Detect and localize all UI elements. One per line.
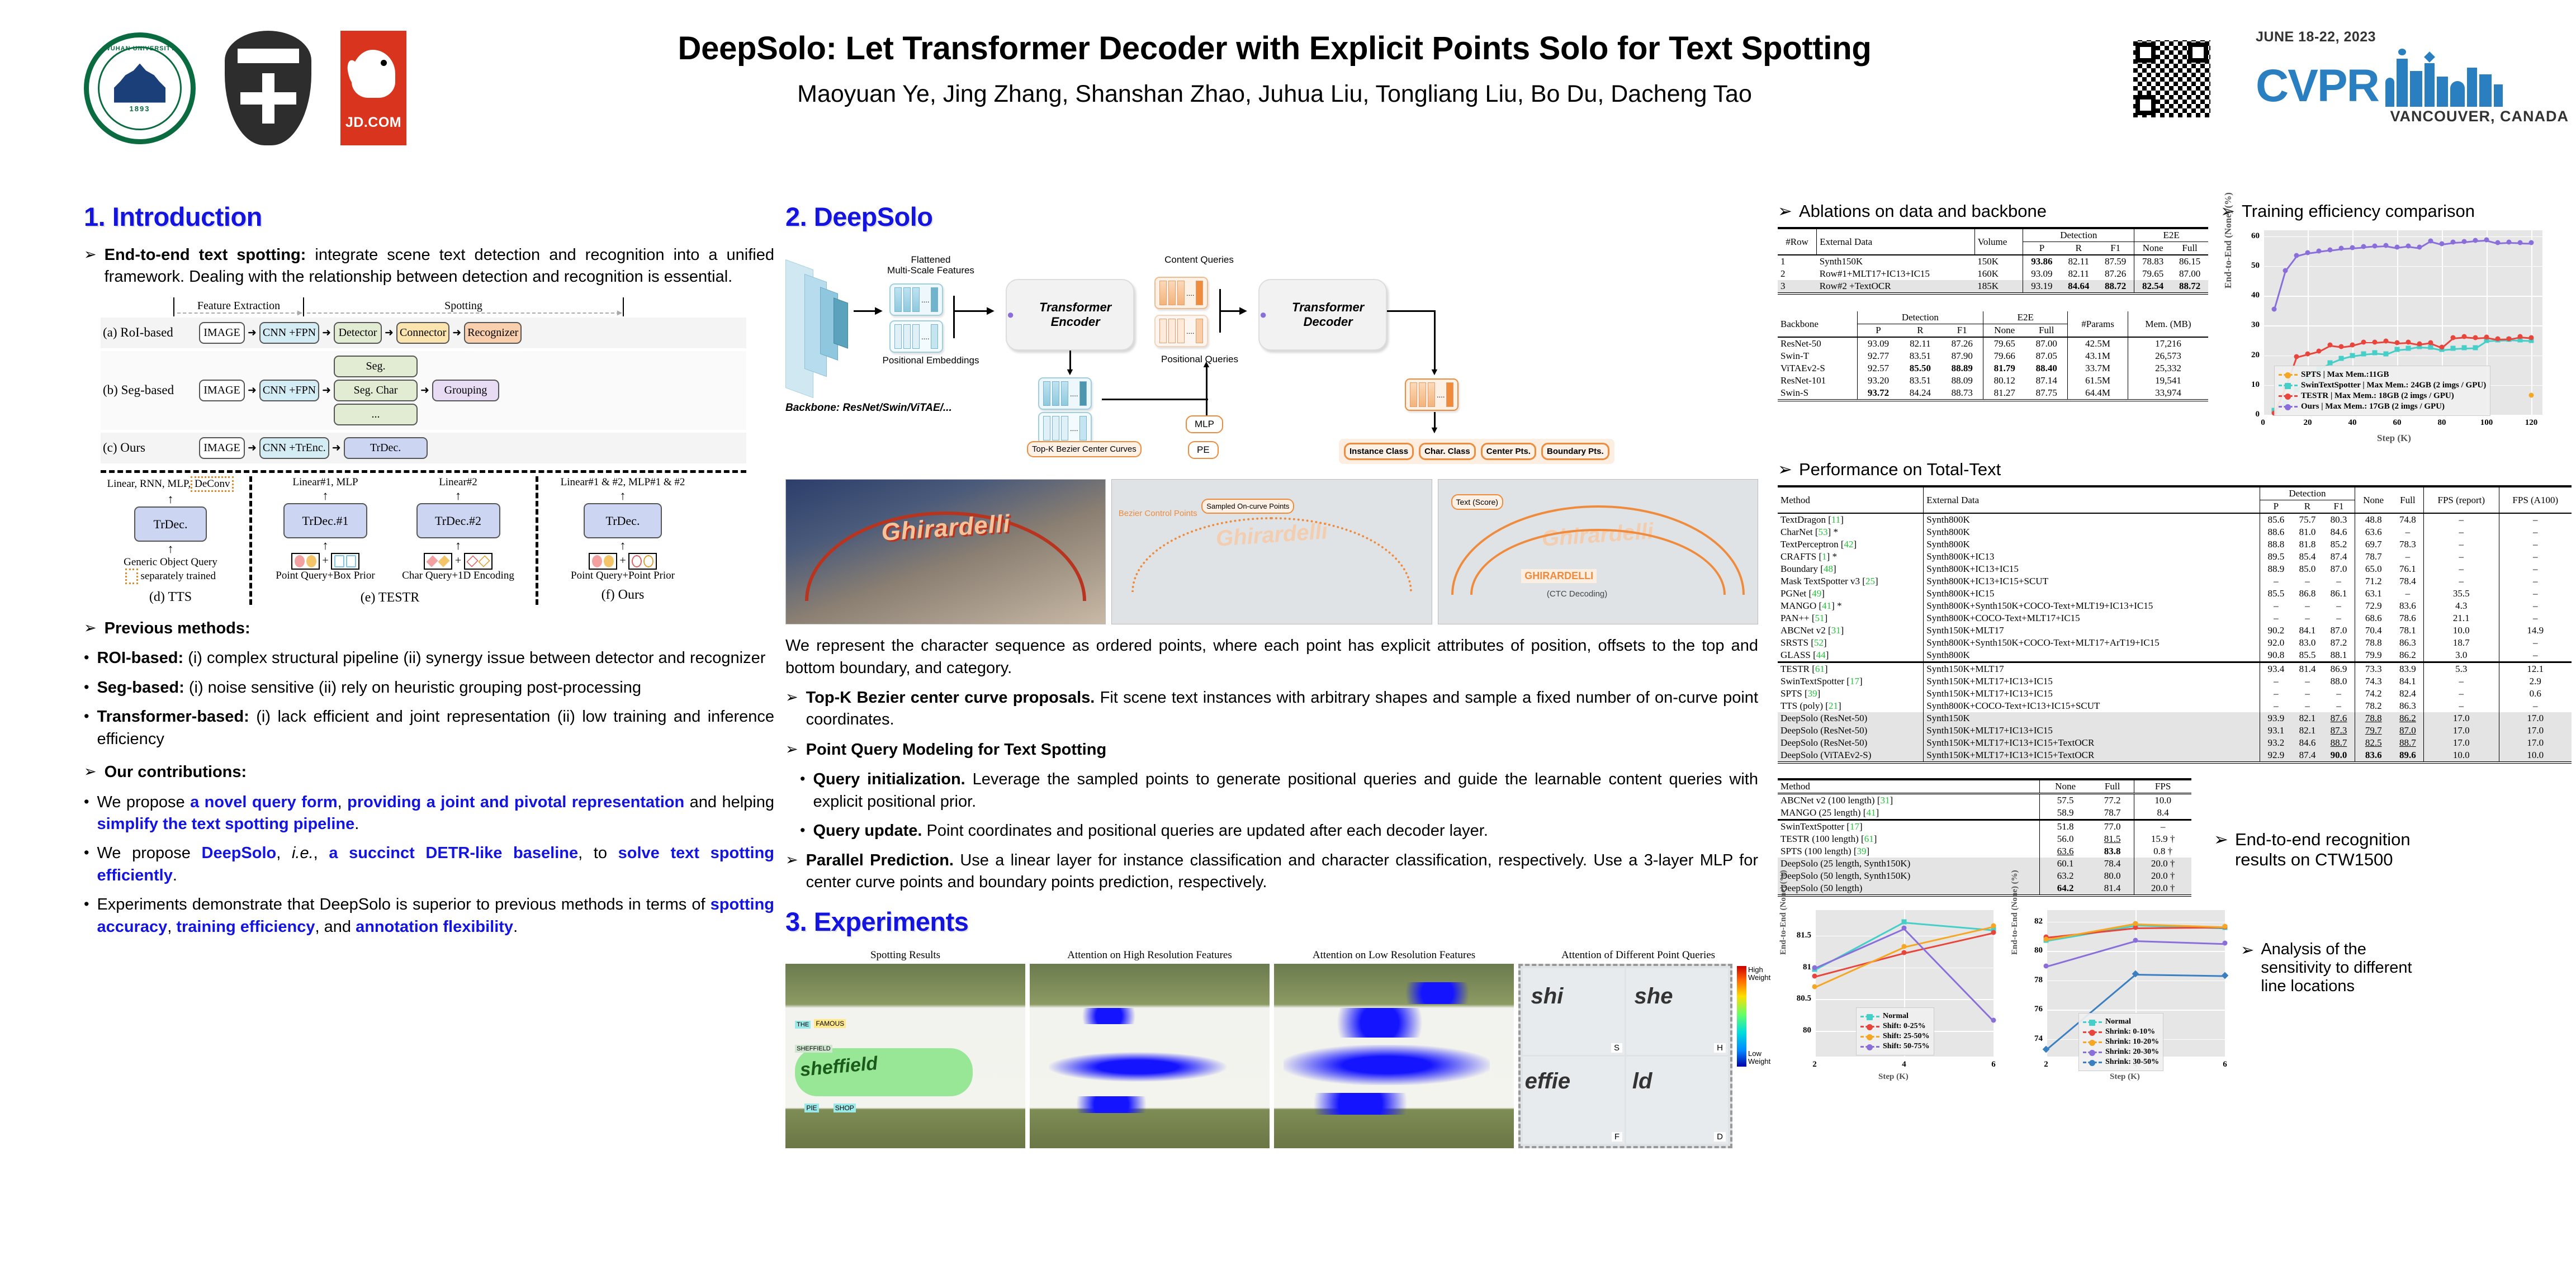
cell-external-data: Synth800K+IC15 (1924, 588, 2260, 600)
cell-value: 90.8 (2260, 649, 2292, 662)
table-row: ResNet-5093.0982.1187.2679.6587.0042.5M1… (1778, 337, 2208, 350)
data-point (2529, 335, 2534, 340)
arrow-bullet-icon: ➢ (785, 850, 798, 894)
cell-value: – (2423, 563, 2499, 575)
cell-R: 83.51 (1900, 375, 1942, 387)
data-point (2283, 268, 2288, 273)
highlight-part: training efficiency (176, 918, 315, 936)
arrow-bullet-icon: ➢ (1778, 460, 1792, 480)
figure-row-label: (b) Seg-based (103, 383, 199, 397)
cell-value: – (2323, 612, 2355, 624)
cell-value: 35.5 (2423, 588, 2499, 600)
cell-method: CharNet [53] * (1778, 526, 1924, 538)
text-part: We propose (97, 793, 190, 811)
table-row: DeepSolo (25 length, Synth150K)60.178.42… (1778, 858, 2191, 870)
label-ctc-decoding: (CTC Decoding) (1547, 589, 1607, 599)
intro-contribution-2: • We propose DeepSolo, i.e., a succinct … (84, 842, 774, 887)
cell-value: 85.2 (2323, 538, 2355, 551)
figure-ghirardelli-panels: Ghirardelli Ghirardelli Sampled On-curve… (785, 479, 1758, 624)
data-point (2451, 240, 2456, 245)
head-char-class: Char. Class (1419, 443, 1476, 460)
cell-external-data: Synth800K (1924, 649, 2260, 662)
cell-method: TESTR (100 length) [61] (1778, 833, 2040, 845)
cell-F1: 87.26 (2097, 268, 2134, 280)
cell-value: – (2291, 575, 2323, 588)
vancouver-skyline-icon (2383, 45, 2569, 107)
col-full: Full (2025, 324, 2067, 338)
col-r: R (2291, 500, 2323, 514)
cell-method: GLASS [44] (1778, 649, 1924, 662)
label-content-queries: Content Queries (1143, 254, 1255, 265)
cell-Mem. (MB): 25,332 (2128, 362, 2208, 375)
col-f1: F1 (2323, 500, 2355, 514)
cell-value: – (2323, 700, 2355, 712)
table-row: SPTS [39]Synth150K+MLT17+IC13+IC15–––74.… (1778, 688, 2572, 700)
cell-value: 78.2 (2355, 700, 2392, 712)
cell-method: DeepSolo (ResNet-50) (1778, 737, 1924, 749)
data-point (2518, 334, 2523, 339)
cell-external-data: Synth150K+MLT17 (1924, 662, 2260, 676)
wuhan-building-icon (114, 64, 165, 103)
data-point (2518, 240, 2523, 245)
cell-method: SRSTS [52] (1778, 637, 1924, 649)
transformer-decoder-block: ● Transformer Decoder (1258, 279, 1387, 351)
figure-label-feature-extraction: Feature Extraction (197, 300, 280, 312)
cell-R: 84.64 (2060, 280, 2097, 293)
data-point (2473, 238, 2478, 243)
data-point (1991, 1018, 1996, 1023)
col-volume: Volume (1974, 228, 2023, 255)
data-point (2133, 921, 2138, 926)
cell-value: 85.4 (2291, 551, 2323, 563)
cell-value: – (2134, 820, 2191, 834)
col-r: R (2060, 242, 2097, 255)
cell-value: 5.3 (2423, 662, 2499, 676)
cell-method: ABCNet v2 [31] (1778, 624, 1924, 637)
content-queries-stack: .... (1154, 277, 1208, 309)
figure-cell-separately-trained: separately trained (140, 570, 216, 582)
cell-value: 10.0 (2423, 749, 2499, 763)
heading-label: End-to-end recognition results on CTW150… (2235, 830, 2449, 870)
label-sampled-on-curve-points: Sampled On-curve Points (1201, 499, 1294, 514)
cell-method: SwinTextSpotter [17] (1778, 820, 2040, 834)
chart-xlabel: Step (K) (1878, 1072, 1909, 1082)
data-point (2305, 250, 2310, 255)
dot-bullet-icon: • (84, 894, 89, 938)
cell-value: 93.1 (2260, 724, 2292, 737)
cell-Full: 87.14 (2025, 375, 2067, 387)
col-full: Full (2392, 486, 2424, 513)
attention-colorbar: High Weight Low Weight (1736, 966, 1758, 1067)
cell-P: 92.57 (1857, 362, 1899, 375)
data-point (2350, 245, 2355, 250)
cell-None: 79.66 (1983, 350, 2025, 362)
cell-value: – (2499, 563, 2572, 575)
cell-value: 88.6 (2260, 526, 2292, 538)
cell-P: 93.86 (2023, 255, 2060, 268)
cell-value: 85.6 (2260, 513, 2292, 526)
cell-value: – (2291, 700, 2323, 712)
cell-value: – (2423, 688, 2499, 700)
text-part: . (354, 815, 359, 833)
cell-method: DeepSolo (50 length) (1778, 882, 2040, 896)
cell-None: 80.12 (1983, 375, 2025, 387)
arrow-bullet-icon: ➢ (84, 244, 97, 288)
arrow-bullet-icon: ➢ (84, 618, 97, 640)
table-row: ResNet-10193.2083.5188.0980.1287.1461.5M… (1778, 375, 2208, 387)
cell-R: 85.50 (1900, 362, 1942, 375)
figure-box-trdec: TrDec. (584, 503, 662, 538)
cell-value: 83.6 (2392, 600, 2424, 612)
cell-value: – (2423, 575, 2499, 588)
cell-value: 83.6 (2355, 749, 2392, 763)
figure-cell-point-query-point-prior: Point Query+Point Prior (547, 570, 698, 582)
jd-dog-eye-icon (381, 60, 387, 66)
deepsolo-paragraph-1: We represent the character sequence as o… (785, 634, 1758, 679)
cell-external-data: Synth800K (1924, 526, 2260, 538)
figure-cell-top-label: Linear, RNN, MLP, (107, 478, 191, 490)
label-flattened: Flattened (869, 254, 992, 265)
legend-item: SwinTextSpotter | Max Mem.: 24GB (2 imgs… (2279, 381, 2486, 390)
cell-#Params: 61.5M (2068, 375, 2128, 387)
label-topk-bezier-curves: Top-K Bezier Center Curves (1027, 441, 1142, 457)
cell-value: 20.0 † (2134, 858, 2191, 870)
cell-external-data: Synth150K+MLT17+IC13+IC15 (1924, 675, 2260, 688)
figure-row-seg-based: (b) Seg-based IMAGE➜ CNN +FPN➜ Seg. Seg.… (101, 351, 746, 430)
col-p: P (2023, 242, 2060, 255)
highlight-part: a succinct DETR-like baseline (329, 844, 578, 862)
col-f1: F1 (2097, 242, 2134, 255)
y-tick-label: 80.5 (1797, 994, 1811, 1003)
cell-value: 78.1 (2392, 624, 2424, 637)
cell-value: 14.9 (2499, 624, 2572, 637)
highlight-part: providing a joint and pivotal representa… (347, 793, 684, 811)
cell-F1: 88.09 (1941, 375, 1983, 387)
point-query-cell-s: shi S (1523, 968, 1625, 1055)
col-none: None (2040, 779, 2091, 794)
cell-P: 93.09 (2023, 268, 2060, 280)
figure-attention-strip: Spotting Results FAMOUS THE SHEFFIELD sh… (785, 949, 1758, 1148)
table-row: Mask TextSpotter v3 [25]Synth800K+IC13+I… (1778, 575, 2572, 588)
right-heading-row: ➢ Ablations on data and backbone ➢ Train… (1778, 201, 2572, 227)
qr-finder-top-left (2135, 42, 2156, 63)
figure-box-grouping: Grouping (432, 380, 499, 401)
logo-group: WUHAN UNIVERSITY 1893 JD.COM (84, 31, 406, 145)
table-row: ViTAEv2-S92.5785.5088.8981.7988.4033.7M2… (1778, 362, 2208, 375)
cell-value: 87.0 (2392, 724, 2424, 737)
x-tick-label: 60 (2390, 418, 2404, 428)
cell-Mem. (MB): 19,541 (2128, 375, 2208, 387)
table-row: TESTR (100 length) [61]56.081.515.9 † (1778, 833, 2191, 845)
encoder-output-stack-top: .... (1038, 377, 1092, 410)
cell-P: 92.77 (1857, 350, 1899, 362)
chart-xlabel: Step (K) (2377, 433, 2411, 444)
table-header-group-row: Backbone Detection E2E #Params Mem. (MB) (1778, 311, 2208, 324)
cell-value: 86.1 (2323, 588, 2355, 600)
head-center-pts: Center Pts. (1481, 443, 1536, 460)
cell-value: 84.1 (2392, 675, 2424, 688)
legend-item: Ours | Max Mem.: 17GB (2 imgs / GPU) (2279, 402, 2486, 411)
dot-bullet-icon: • (84, 706, 89, 750)
cell-#Params: 33.7M (2068, 362, 2128, 375)
cell-value: 84.1 (2291, 624, 2323, 637)
cell-#Params: 42.5M (2068, 337, 2128, 350)
legend-label: Shrink: 0-10% (2105, 1027, 2155, 1036)
cell-value: – (2291, 675, 2323, 688)
y-tick-label: 81 (1803, 963, 1811, 972)
cell-value: 81.4 (2091, 882, 2134, 896)
head-boundary-pts: Boundary Pts. (1541, 443, 1609, 460)
strip-caption: Attention on High Resolution Features (1030, 949, 1270, 962)
col-params: #Params (2068, 311, 2128, 337)
bullet-text: Point coordinates and positional queries… (922, 822, 1488, 840)
data-point (2473, 335, 2478, 340)
cell-value: 88.1 (2323, 649, 2355, 662)
cell-F1: 88.73 (1941, 387, 1983, 400)
deepsolo-bullet-topk: ➢ Top-K Bezier center curve proposals. F… (785, 687, 1758, 731)
legend-label: Shift: 0-25% (1883, 1022, 1926, 1031)
data-point (2361, 339, 2366, 344)
colorbar-low-label: Low Weight (1748, 1050, 1770, 1066)
cell-value: 87.4 (2291, 749, 2323, 763)
cell-value: 82.1 (2291, 724, 2323, 737)
table-row: Swin-T92.7783.5187.9079.6687.0543.1M26,5… (1778, 350, 2208, 362)
cell-value: 78.8 (2355, 712, 2392, 724)
cell-value: – (2499, 551, 2572, 563)
heading-training-efficiency: ➢ Training efficiency comparison (2220, 201, 2475, 221)
table-total-text: Method External Data Detection None Full… (1778, 485, 2572, 764)
label-mlp: MLP (1186, 415, 1223, 433)
label-ghirardelli-output: GHIRARDELLI (1521, 569, 1597, 583)
cell-Full: 86.15 (2171, 255, 2208, 268)
intro-bullet-transformer-based: • Transformer-based: (i) lack efficient … (84, 706, 774, 750)
cell-External Data: Row#2 +TextOCR (1817, 280, 1975, 293)
table-row: CRAFTS [1] *Synth800K+IC1389.585.487.478… (1778, 551, 2572, 563)
figure-row-label: (a) RoI-based (103, 325, 199, 340)
detection-box-sheffield: SHEFFIELD (795, 1045, 832, 1053)
cell-value: – (2291, 612, 2323, 624)
bullet-label: Seg-based: (97, 679, 184, 697)
cell-R: 83.51 (1900, 350, 1942, 362)
cell-value: 70.4 (2355, 624, 2392, 637)
data-point (2350, 353, 2355, 358)
heading-label: Training efficiency comparison (2242, 201, 2475, 221)
data-point (2350, 342, 2355, 347)
data-point (2529, 393, 2534, 398)
cell-value: – (2423, 513, 2499, 526)
cell-value: – (2423, 551, 2499, 563)
cell-value: – (2499, 612, 2572, 624)
cell-value: 83.8 (2091, 845, 2134, 858)
cell-value: 76.1 (2392, 563, 2424, 575)
legend-label: Shrink: 10-20% (2105, 1038, 2159, 1046)
label-positional-queries: Positional Queries (1141, 354, 1258, 364)
cell-value: 86.3 (2392, 700, 2424, 712)
label-multiscale-features: Multi-Scale Features (869, 265, 992, 276)
cell-value: 78.8 (2355, 637, 2392, 649)
intro-bullet-seg-based: • Seg-based: (i) noise sensitive (ii) re… (84, 677, 774, 699)
chart-ylabel: End-to-End (None) (%) (1779, 870, 1788, 955)
cell-method: DeepSolo (50 length, Synth150K) (1778, 870, 2040, 882)
label-transformer-encoder: Transformer Encoder (1017, 300, 1133, 329)
text-part: We propose (97, 844, 201, 862)
cell-method: SPTS [39] (1778, 688, 1924, 700)
cell-external-data: Synth800K+IC13+IC15 (1924, 563, 2260, 575)
intro-contribution-3: • Experiments demonstrate that DeepSolo … (84, 894, 774, 938)
cell-value: 63.6 (2040, 845, 2091, 858)
cell-method: Boundary [48] (1778, 563, 1924, 575)
cell-method: TextPerceptron [42] (1778, 538, 1924, 551)
table-row: DeepSolo (50 length)64.281.420.0 † (1778, 882, 2191, 896)
data-point (2133, 925, 2138, 930)
legend-label: Shrink: 20-30% (2105, 1048, 2159, 1057)
figure-cell-tts: Linear, RNN, MLP,DeConv ↑ TrDec. ↑ Gener… (101, 476, 240, 605)
cell-external-data: Synth800K (1924, 538, 2260, 551)
cell-method: SwinTextSpotter [17] (1778, 675, 1924, 688)
cell-value: 56.0 (2040, 833, 2091, 845)
x-tick-label: 6 (2218, 1060, 2232, 1069)
cell-None: 79.65 (2134, 268, 2171, 280)
col-r: R (1900, 324, 1942, 338)
cell-value: – (2260, 575, 2292, 588)
figure-cell-deconv: DeConv (191, 476, 234, 492)
table-row: SPTS (100 length) [39]63.683.80.8 † (1778, 845, 2191, 858)
cell-Volume: 150K (1974, 255, 2023, 268)
intro-contribution-1: • We propose a novel query form, providi… (84, 792, 774, 836)
cell-value: 85.5 (2291, 649, 2323, 662)
table-row: ABCNet v2 (100 length) [31]57.577.210.0 (1778, 794, 2191, 807)
cell-value: 8.4 (2134, 807, 2191, 820)
data-point (2507, 336, 2512, 341)
table-row: SRSTS [52]Synth800K+Synth150K+COCO-Text+… (1778, 637, 2572, 649)
table-row: Swin-S93.7284.2488.7381.2787.7564.4M33,9… (1778, 387, 2208, 400)
cell-#Row: 3 (1778, 280, 1817, 293)
cell-Full: 87.75 (2025, 387, 2067, 400)
figure-box-recognizer: Recognizer (464, 322, 522, 344)
x-tick-label: 100 (2480, 418, 2493, 428)
legend-item: Normal (2083, 1017, 2159, 1026)
cell-value: 17.0 (2423, 737, 2499, 749)
highlight-part: annotation flexibility (356, 918, 513, 936)
cell-value: 80.0 (2091, 870, 2134, 882)
bullet-label: Query initialization. (813, 770, 965, 788)
y-tick-label: 80 (2034, 946, 2043, 955)
col-mem: Mem. (MB) (2128, 311, 2208, 337)
cell-P: 93.19 (2023, 280, 2060, 293)
text-part: , (338, 793, 348, 811)
column-results: ➢ Ablations on data and backbone ➢ Train… (1778, 201, 2572, 1091)
strip-attention-point-queries: Attention of Different Point Queries shi… (1518, 949, 1758, 1148)
heading-label: Analysis of the sensitivity to different… (2261, 940, 2425, 996)
data-point (2428, 238, 2433, 243)
data-point (2133, 937, 2138, 943)
legend-label: SwinTextSpotter | Max Mem.: 24GB (2 imgs… (2301, 381, 2486, 390)
cell-R: 82.11 (2060, 255, 2097, 268)
cell-value: 84.6 (2323, 526, 2355, 538)
cell-value: 88.8 (2260, 538, 2292, 551)
cell-value: 74.8 (2392, 513, 2424, 526)
data-point (2317, 348, 2322, 353)
data-point (2294, 354, 2299, 359)
photo-bezier-points: Ghirardelli Sampled On-curve Points Bezi… (1111, 479, 1432, 624)
cell-Backbone: Swin-T (1778, 350, 1857, 362)
cell-Backbone: ResNet-50 (1778, 337, 1857, 350)
head-instance-class: Instance Class (1344, 443, 1414, 460)
strip-attention-low-res: Attention on Low Resolution Features (1274, 949, 1514, 1148)
cell-value: 74.2 (2355, 688, 2392, 700)
cell-value: 17.0 (2499, 724, 2572, 737)
cell-value: – (2260, 612, 2292, 624)
figure-box-image: IMAGE (199, 380, 245, 401)
figure-box-seg-char: Seg. Char (334, 380, 418, 401)
cell-value: 17.0 (2499, 737, 2572, 749)
section-heading-introduction: 1. Introduction (84, 201, 774, 232)
y-tick-label: 78 (2034, 976, 2043, 985)
arrow-bullet-icon: ➢ (2241, 940, 2254, 960)
cell-value: 63.2 (2040, 870, 2091, 882)
data-point (2417, 342, 2422, 347)
intro-previous-methods-label: Previous methods: (105, 618, 250, 640)
positional-queries-stack: .... (1154, 315, 1208, 347)
section-heading-experiments: 3. Experiments (785, 906, 1758, 937)
cell-value: 82.1 (2291, 712, 2323, 724)
col-external-data: External Data (1924, 486, 2260, 513)
legend-label: TESTR | Max Mem.: 18GB (2 imgs / GPU) (2301, 391, 2454, 401)
group-detection: Detection (2023, 228, 2134, 242)
cell-value: 80.3 (2323, 513, 2355, 526)
cell-value: 92.0 (2260, 637, 2292, 649)
intro-contributions-label: Our contributions: (105, 761, 247, 783)
cell-value: – (2499, 600, 2572, 612)
cell-P: 93.09 (1857, 337, 1899, 350)
data-point (2294, 253, 2299, 258)
cell-method: Mask TextSpotter v3 [25] (1778, 575, 1924, 588)
cell-value: 17.0 (2423, 712, 2499, 724)
intro-heading-contributions: ➢ Our contributions: (84, 761, 774, 783)
sydney-logo-cross-horizontal (240, 92, 296, 105)
cell-value: 17.0 (2423, 724, 2499, 737)
figure-caption-d: (d) TTS (101, 590, 240, 605)
cell-value: 78.6 (2392, 612, 2424, 624)
cell-value: – (2499, 649, 2572, 662)
strip-caption: Attention of Different Point Queries (1518, 949, 1758, 962)
cell-None: 82.54 (2134, 280, 2171, 293)
cell-external-data: Synth800K (1924, 513, 2260, 526)
cell-value: 77.0 (2091, 820, 2134, 834)
y-tick-label: 30 (2251, 320, 2260, 330)
legend-item: Normal (1860, 1012, 1930, 1021)
col-fps-report: FPS (report) (2423, 486, 2499, 513)
table-ablation-backbone: Backbone Detection E2E #Params Mem. (MB)… (1778, 311, 2208, 401)
jd-logo-label: JD.COM (345, 115, 401, 131)
data-point (2373, 339, 2378, 344)
text-part: Experiments demonstrate that DeepSolo is… (97, 896, 710, 913)
col-full: Full (2171, 242, 2208, 255)
cell-value: – (2499, 700, 2572, 712)
table-row: MANGO [41] *Synth800K+Synth150K+COCO-Tex… (1778, 600, 2572, 612)
cell-Full: 87.00 (2171, 268, 2208, 280)
query-letter: F (1612, 1132, 1622, 1142)
cell-value: 73.3 (2355, 662, 2392, 676)
cell-Full: 87.05 (2025, 350, 2067, 362)
table-header-group-row: Method External Data Detection None Full… (1778, 486, 2572, 500)
cell-Mem. (MB): 26,573 (2128, 350, 2208, 362)
cell-method: TESTR [61] (1778, 662, 1924, 676)
cell-value: – (2260, 688, 2292, 700)
figure-cell-top-label: Linear#1 & #2, MLP#1 & #2 (547, 476, 698, 489)
cell-value: – (2392, 551, 2424, 563)
x-tick-label: 20 (2301, 418, 2314, 428)
